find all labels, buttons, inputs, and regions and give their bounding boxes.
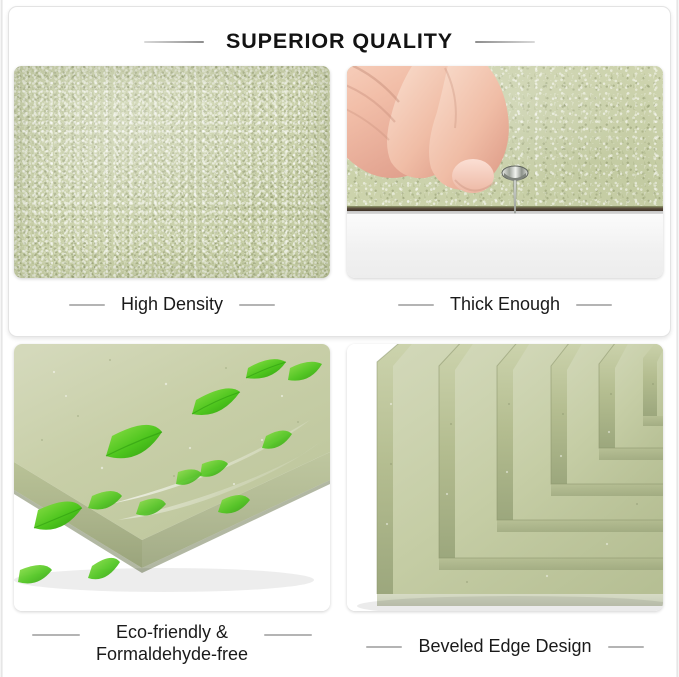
- page-title: SUPERIOR QUALITY: [226, 29, 453, 54]
- caption-beveled-edge-label: Beveled Edge Design: [418, 636, 591, 658]
- caption-rule-right-icon: [264, 634, 312, 636]
- push-pin-icon: [500, 161, 530, 221]
- caption-rule-left-icon: [69, 304, 105, 306]
- caption-high-density: High Density: [14, 288, 330, 322]
- panel-high-density-image: [14, 66, 330, 278]
- caption-eco-line-2: Formaldehyde-free: [96, 644, 248, 666]
- page-title-row: SUPERIOR QUALITY: [9, 29, 670, 54]
- caption-thick-enough-label: Thick Enough: [450, 294, 560, 316]
- felt-board-corner-illustration: [14, 344, 330, 611]
- infographic-page: SUPERIOR QUALITY High Density: [0, 0, 679, 677]
- caption-rule-right-icon: [608, 646, 644, 648]
- caption-rule-left-icon: [366, 646, 402, 648]
- caption-eco-friendly: Eco-friendly & Formaldehyde-free: [14, 622, 330, 672]
- caption-thick-enough: Thick Enough: [347, 288, 663, 322]
- caption-rule-right-icon: [576, 304, 612, 306]
- caption-eco-line-1: Eco-friendly &: [116, 622, 228, 642]
- title-rule-right-icon: [475, 41, 535, 43]
- caption-rule-left-icon: [398, 304, 434, 306]
- caption-beveled-edge: Beveled Edge Design: [347, 630, 663, 664]
- caption-rule-right-icon: [239, 304, 275, 306]
- felt-vignette: [14, 66, 330, 278]
- stacked-boards-illustration: [347, 344, 663, 611]
- panel-eco-friendly-image: [14, 344, 330, 611]
- panel-thick-enough-image: [347, 66, 663, 278]
- caption-high-density-label: High Density: [121, 294, 223, 316]
- title-rule-left-icon: [144, 41, 204, 43]
- left-frame-edge: [0, 0, 3, 677]
- panel-beveled-edge-image: [347, 344, 663, 611]
- caption-eco-friendly-label: Eco-friendly & Formaldehyde-free: [96, 622, 248, 666]
- caption-rule-left-icon: [32, 634, 80, 636]
